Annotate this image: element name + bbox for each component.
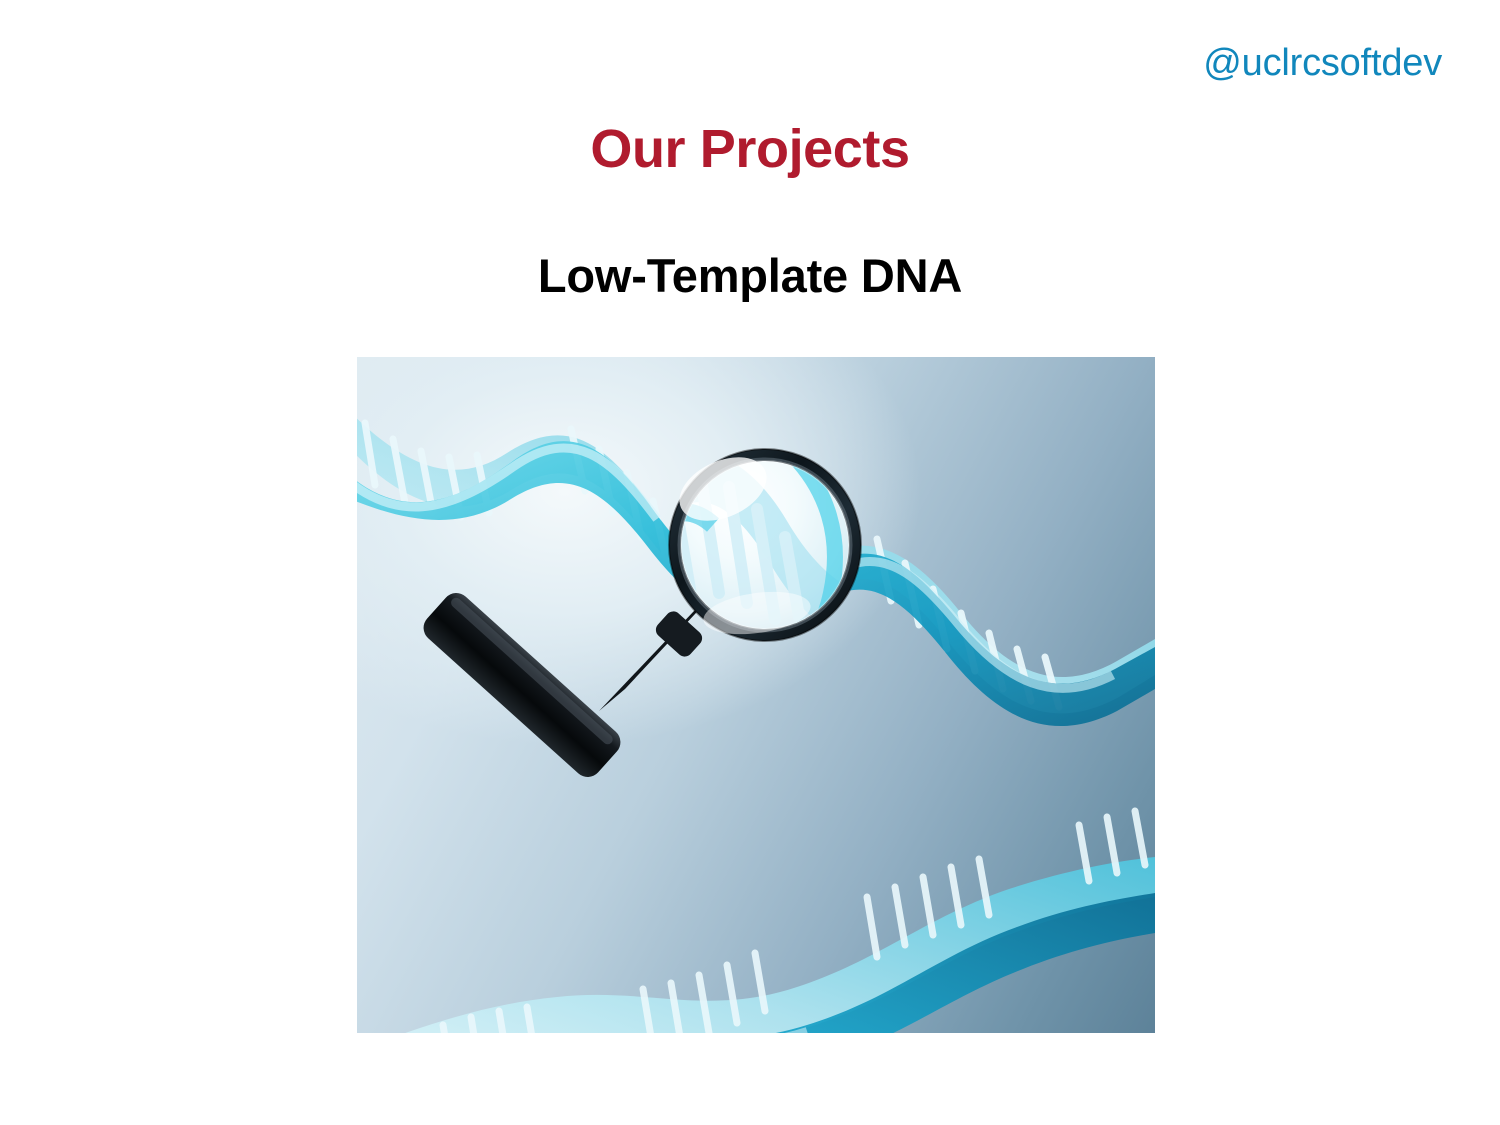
twitter-handle: @uclrcsoftdev (1203, 44, 1442, 82)
slide-root: @uclrcsoftdev Our Projects Low-Template … (0, 0, 1500, 1125)
dna-magnifier-illustration (357, 357, 1155, 1033)
page-subtitle: Low-Template DNA (0, 250, 1500, 302)
dna-magnifier-photo (357, 357, 1155, 1033)
lower-dna-strand (357, 811, 1155, 1033)
page-title: Our Projects (0, 120, 1500, 178)
title-block: Our Projects (0, 120, 1500, 178)
